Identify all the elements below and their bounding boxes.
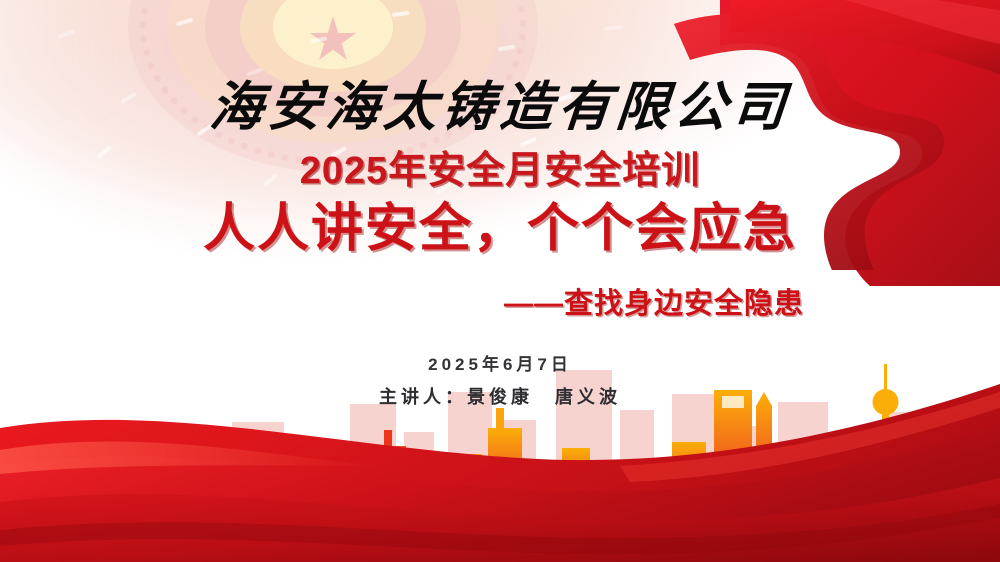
slide-text-layer: 海安海太铸造有限公司 2025年安全月安全培训 人人讲安全，个个会应急 ——查找…	[0, 0, 1000, 562]
presentation-date: 2025年6月7日	[0, 356, 1000, 373]
main-slogan: 人人讲安全，个个会应急	[0, 203, 1000, 255]
sub-tagline: ——查找身边安全隐患	[504, 290, 804, 319]
presenter-names: 主讲人：景俊康 唐义波	[0, 388, 1000, 406]
course-title: 2025年安全月安全培训	[0, 152, 1000, 190]
company-name: 海安海太铸造有限公司	[0, 82, 1000, 135]
presentation-slide: 海安海太铸造有限公司 2025年安全月安全培训 人人讲安全，个个会应急 ——查找…	[0, 0, 1000, 562]
